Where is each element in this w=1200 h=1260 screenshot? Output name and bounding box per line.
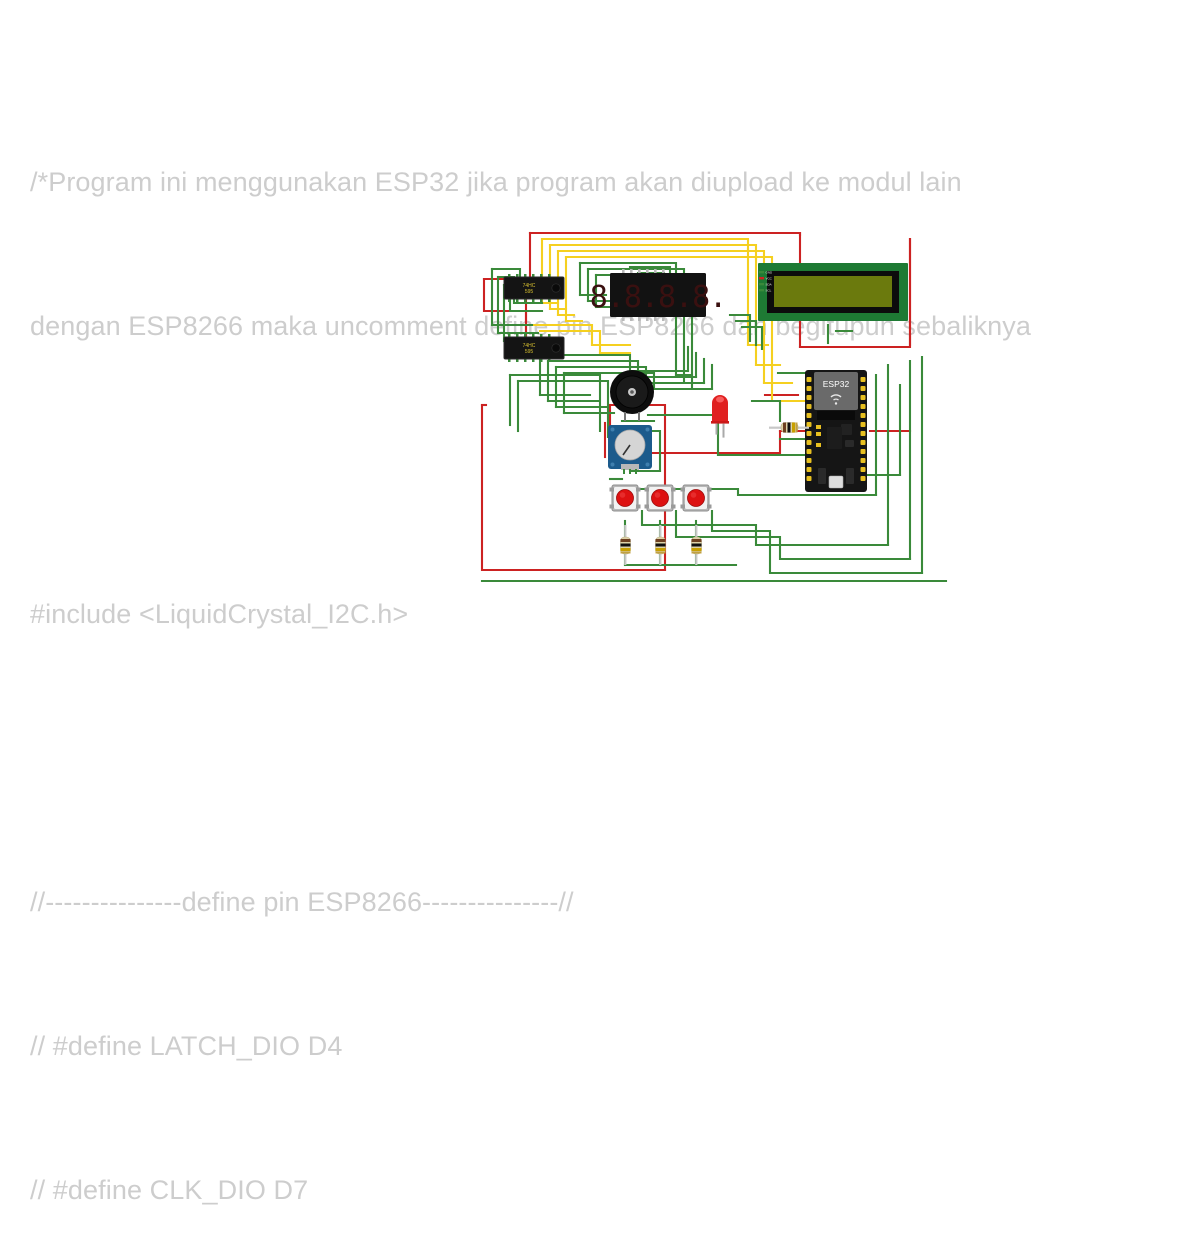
code-line: #include <LiquidCrystal_I2C.h> [30, 590, 1200, 638]
part-seven-segment-display[interactable]: 8.8.8.8. [590, 269, 727, 321]
part-potentiometer[interactable] [608, 425, 652, 474]
code-line: //---------------define pin ESP8266-----… [30, 878, 1200, 926]
part-shift-register-2[interactable] [504, 334, 564, 362]
svg-text:SCL: SCL [766, 289, 772, 293]
part-pushbutton-1[interactable] [610, 485, 641, 511]
svg-text:SDA: SDA [766, 283, 772, 287]
circuit-diagram[interactable]: 74HC 595 [480, 225, 950, 585]
seven-segment-value: 8.8.8.8. [590, 280, 727, 315]
svg-text:GND: GND [766, 271, 774, 275]
code-line: /*Program ini menggunakan ESP32 jika pro… [30, 158, 1200, 206]
part-pushbutton-2[interactable] [645, 485, 676, 511]
code-line [30, 734, 1200, 782]
part-esp32-devkit[interactable]: ESP32 [805, 370, 867, 492]
part-resistor-sw3[interactable] [692, 525, 702, 565]
part-buzzer[interactable] [610, 370, 654, 421]
part-lcd1602[interactable]: GND VCC SDA SCL [758, 263, 908, 321]
code-line: // #define LATCH_DIO D4 [30, 1022, 1200, 1070]
code-line: // #define CLK_DIO D7 [30, 1166, 1200, 1214]
part-led-red[interactable] [711, 395, 729, 438]
svg-text:VCC: VCC [766, 277, 773, 281]
part-pushbutton-3[interactable] [681, 485, 712, 511]
part-shift-register-1[interactable] [504, 274, 564, 302]
part-resistor-sw1[interactable] [621, 525, 631, 565]
esp32-chip-label: ESP32 [823, 379, 850, 389]
